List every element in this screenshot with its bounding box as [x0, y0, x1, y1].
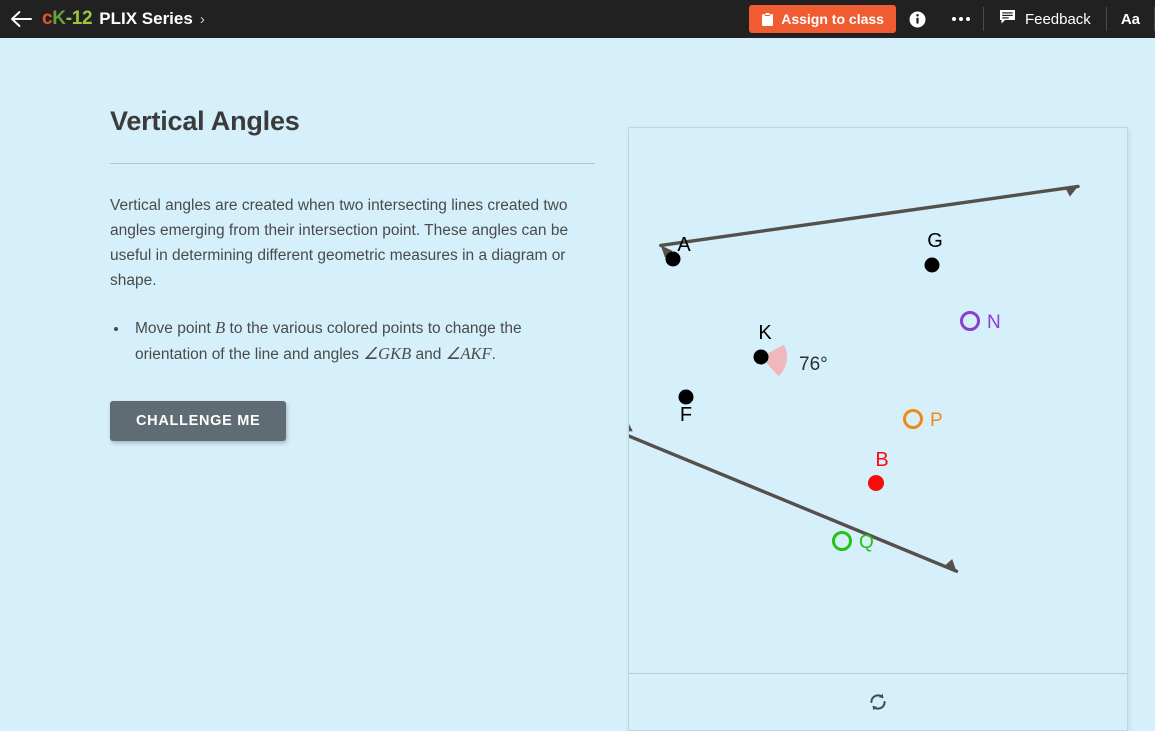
top-bar: c K -12 PLIX Series › Assign to class	[0, 0, 1155, 38]
page-body: Vertical Angles Vertical angles are crea…	[0, 38, 1155, 718]
angle-measure-label: 76°	[799, 354, 828, 375]
instruction-post: .	[492, 346, 496, 363]
title-divider	[110, 163, 595, 164]
instruction-join: and	[411, 346, 445, 363]
feedback-button[interactable]: Feedback	[984, 0, 1106, 38]
brand-number-12: -12	[66, 8, 93, 30]
point-a-label: A	[677, 234, 691, 256]
target-point-p-ring[interactable]	[905, 411, 922, 428]
arrow-head-upper-right	[1065, 186, 1078, 196]
point-b-label: B	[875, 449, 888, 471]
breadcrumb-title[interactable]: PLIX Series	[99, 9, 193, 29]
ellipsis-dots	[952, 17, 970, 21]
math-angle-gkb: ∠GKB	[363, 344, 411, 363]
math-point-b: B	[215, 318, 225, 337]
clipboard-icon	[761, 12, 774, 27]
feedback-label: Feedback	[1025, 11, 1091, 28]
target-point-q-label: Q	[859, 532, 874, 553]
panel-footer	[629, 673, 1127, 730]
point-f-dot	[679, 390, 694, 405]
target-points[interactable]: NPQ	[834, 312, 1001, 553]
brand-logo[interactable]: c K -12	[42, 8, 92, 30]
line-fkb[interactable]	[629, 432, 956, 571]
interactive-diagram-panel: AGKFB NPQ 76°	[628, 127, 1128, 731]
assign-to-class-label: Assign to class	[781, 11, 884, 27]
text-size-button[interactable]: Aa	[1107, 0, 1154, 38]
target-point-p-label: P	[930, 410, 943, 431]
point-b[interactable]: B	[868, 449, 889, 491]
target-point-p[interactable]: P	[905, 410, 943, 431]
chevron-right-icon: ›	[200, 11, 205, 28]
point-b-dot[interactable]	[868, 475, 884, 491]
top-bar-actions: Assign to class	[749, 0, 1155, 38]
target-point-q[interactable]: Q	[834, 532, 874, 553]
point-g: G	[925, 230, 943, 273]
arrow-head-lower-left	[629, 422, 633, 432]
target-point-n[interactable]: N	[962, 312, 1001, 333]
point-g-dot	[925, 258, 940, 273]
arrow-heads	[629, 186, 1078, 571]
challenge-me-button[interactable]: CHALLENGE ME	[110, 401, 286, 441]
point-f: F	[679, 390, 694, 427]
page-title: Vertical Angles	[110, 106, 595, 137]
back-arrow-icon[interactable]	[10, 8, 32, 30]
brand-letter-c: c	[42, 8, 52, 30]
point-k-dot	[754, 350, 769, 365]
point-k-label: K	[758, 322, 772, 344]
math-angle-akf: ∠AKF	[446, 344, 492, 363]
lesson-text-column: Vertical Angles Vertical angles are crea…	[110, 106, 595, 441]
point-f-label: F	[680, 404, 692, 426]
target-point-n-ring[interactable]	[962, 313, 979, 330]
target-point-n-label: N	[987, 312, 1001, 333]
point-g-label: G	[927, 230, 943, 252]
info-icon[interactable]	[896, 0, 939, 38]
assign-to-class-button[interactable]: Assign to class	[749, 5, 896, 33]
refresh-icon[interactable]	[863, 687, 893, 717]
ellipsis-icon[interactable]	[939, 0, 983, 38]
feedback-comment-icon	[999, 9, 1016, 29]
brand-letter-k: K	[52, 8, 65, 30]
intro-paragraph: Vertical angles are created when two int…	[110, 193, 595, 293]
instruction-pre: Move point	[135, 320, 215, 337]
geometry-canvas[interactable]: AGKFB NPQ 76°	[629, 128, 1127, 673]
line-akg[interactable]	[661, 186, 1078, 245]
geometry-svg[interactable]: AGKFB NPQ 76°	[629, 128, 1127, 673]
instruction-list: Move point B to the various colored poin…	[110, 315, 595, 367]
list-item: Move point B to the various colored poin…	[129, 315, 595, 367]
target-point-q-ring[interactable]	[834, 533, 851, 550]
